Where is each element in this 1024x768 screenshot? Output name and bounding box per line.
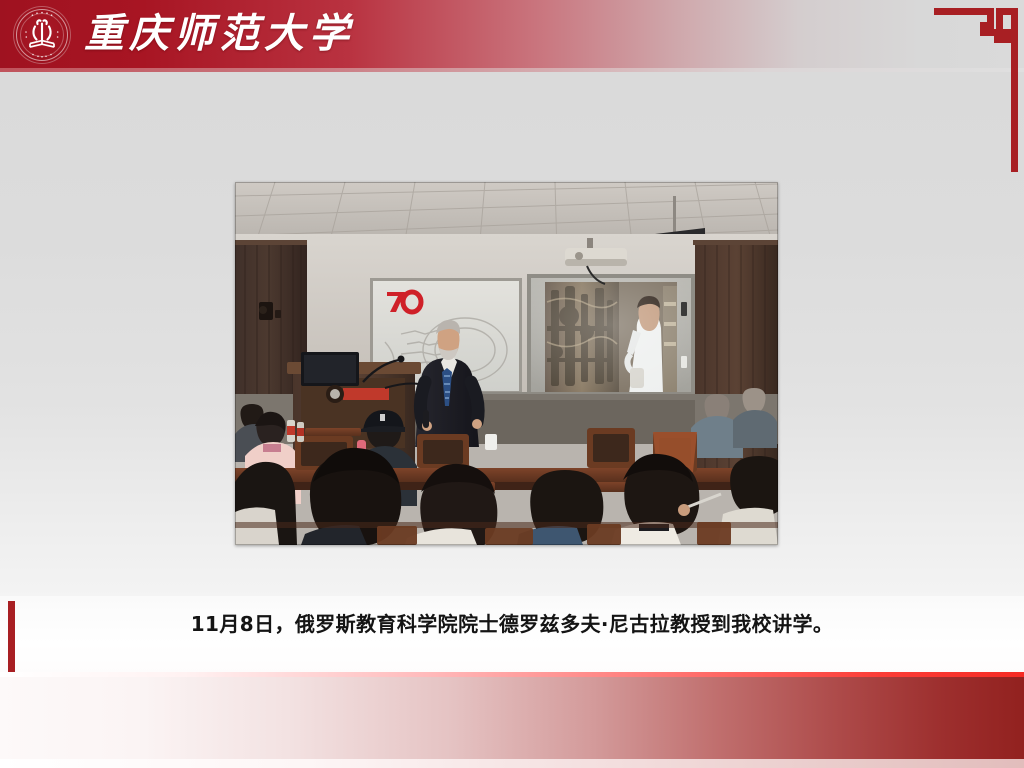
chinese-corner-ornament-icon-top-right <box>910 0 1024 183</box>
footer-band-base <box>0 759 1024 768</box>
header-banner: 重庆师范大学 <box>0 0 1024 68</box>
university-seal-icon <box>13 6 71 64</box>
university-name: 重庆师范大学 <box>84 8 354 60</box>
photo-caption: 11月8日，俄罗斯教育科学院院士德罗兹多夫·尼古拉教授到我校讲学。 <box>0 608 1024 640</box>
footer-band <box>0 677 1024 759</box>
presentation-slide: 重庆师范大学 <box>0 0 1024 768</box>
header-divider <box>0 68 1024 72</box>
lecture-hall-photograph <box>235 182 778 545</box>
